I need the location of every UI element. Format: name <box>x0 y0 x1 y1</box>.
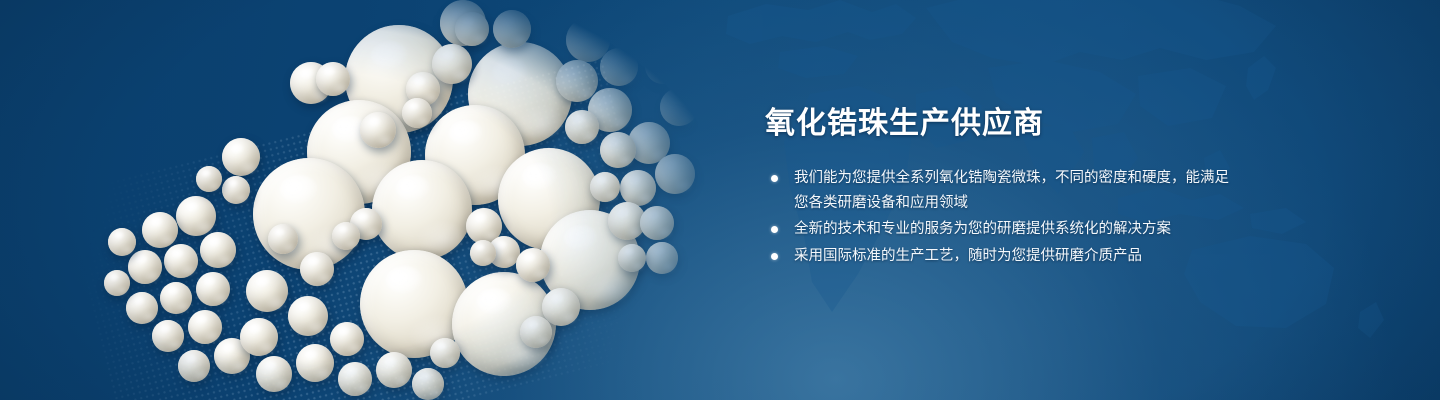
list-item: 我们能为您提供全系列氧化锆陶瓷微珠，不同的密度和硬度，能满足您各类研磨设备和应用… <box>765 166 1235 215</box>
bullet-dot-icon <box>771 175 778 182</box>
hero-banner: 氧化锆珠生产供应商 我们能为您提供全系列氧化锆陶瓷微珠，不同的密度和硬度，能满足… <box>0 0 1440 400</box>
list-item: 全新的技术和专业的服务为您的研磨提供系统化的解决方案 <box>765 217 1235 242</box>
list-item: 采用国际标准的生产工艺，随时为您提供研磨介质产品 <box>765 244 1235 269</box>
feature-list: 我们能为您提供全系列氧化锆陶瓷微珠，不同的密度和硬度，能满足您各类研磨设备和应用… <box>765 166 1235 268</box>
list-item-label: 全新的技术和专业的服务为您的研磨提供系统化的解决方案 <box>794 221 1171 237</box>
list-item-label: 采用国际标准的生产工艺，随时为您提供研磨介质产品 <box>794 248 1142 264</box>
bullet-dot-icon <box>771 253 778 260</box>
bullet-dot-icon <box>771 226 778 233</box>
list-item-label: 我们能为您提供全系列氧化锆陶瓷微珠，不同的密度和硬度，能满足您各类研磨设备和应用… <box>794 170 1229 211</box>
page-title: 氧化锆珠生产供应商 <box>765 104 1235 144</box>
banner-copy: 氧化锆珠生产供应商 我们能为您提供全系列氧化锆陶瓷微珠，不同的密度和硬度，能满足… <box>765 104 1235 270</box>
